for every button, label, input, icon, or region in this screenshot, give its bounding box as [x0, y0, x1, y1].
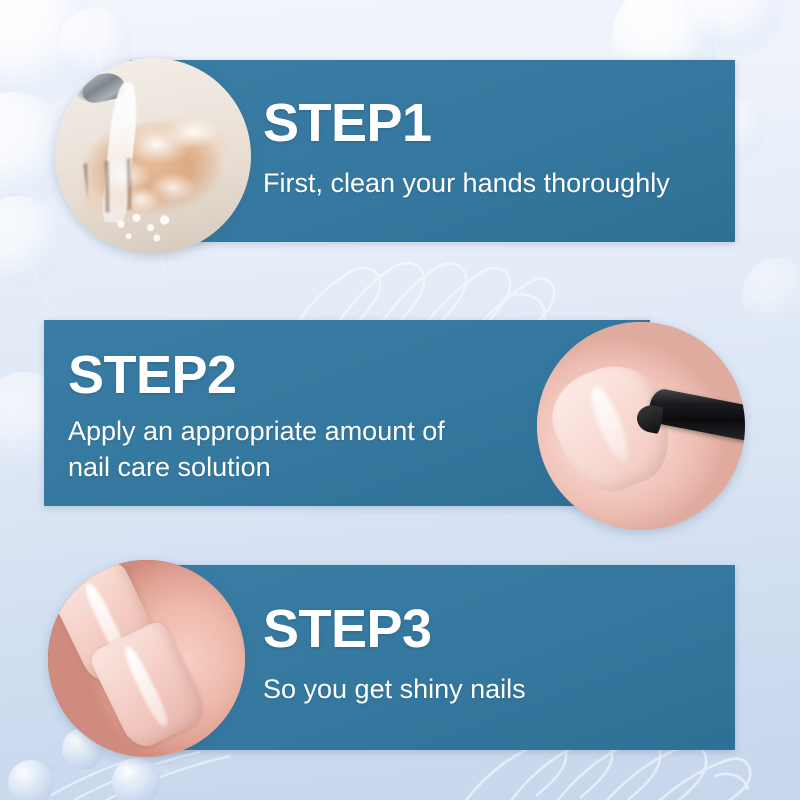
step3-description: So you get shiny nails [263, 672, 723, 707]
step2-photo [537, 322, 745, 530]
bubble-decor-icon [742, 258, 800, 330]
step1-photo [55, 58, 251, 254]
nail-polish-application-image [537, 322, 745, 530]
nail-care-steps-poster: STEP1 First, clean your hands thoroughly… [0, 0, 800, 800]
molecule-node [112, 758, 160, 800]
step1-title: STEP1 [263, 96, 432, 150]
step2-title: STEP2 [68, 348, 237, 402]
washing-hands-image [55, 58, 251, 254]
soap-foam [110, 207, 188, 250]
step2-description-line1: Apply an appropriate amount of [68, 414, 528, 449]
step3-title: STEP3 [263, 602, 432, 656]
bubble-decor-icon [688, 0, 784, 56]
step2-description-line2: nail care solution [68, 450, 528, 485]
finger-lines [84, 149, 215, 215]
molecule-node [8, 760, 54, 800]
step1-description: First, clean your hands thoroughly [263, 166, 733, 201]
shiny-nails-image [48, 560, 245, 757]
step3-photo [48, 560, 245, 757]
